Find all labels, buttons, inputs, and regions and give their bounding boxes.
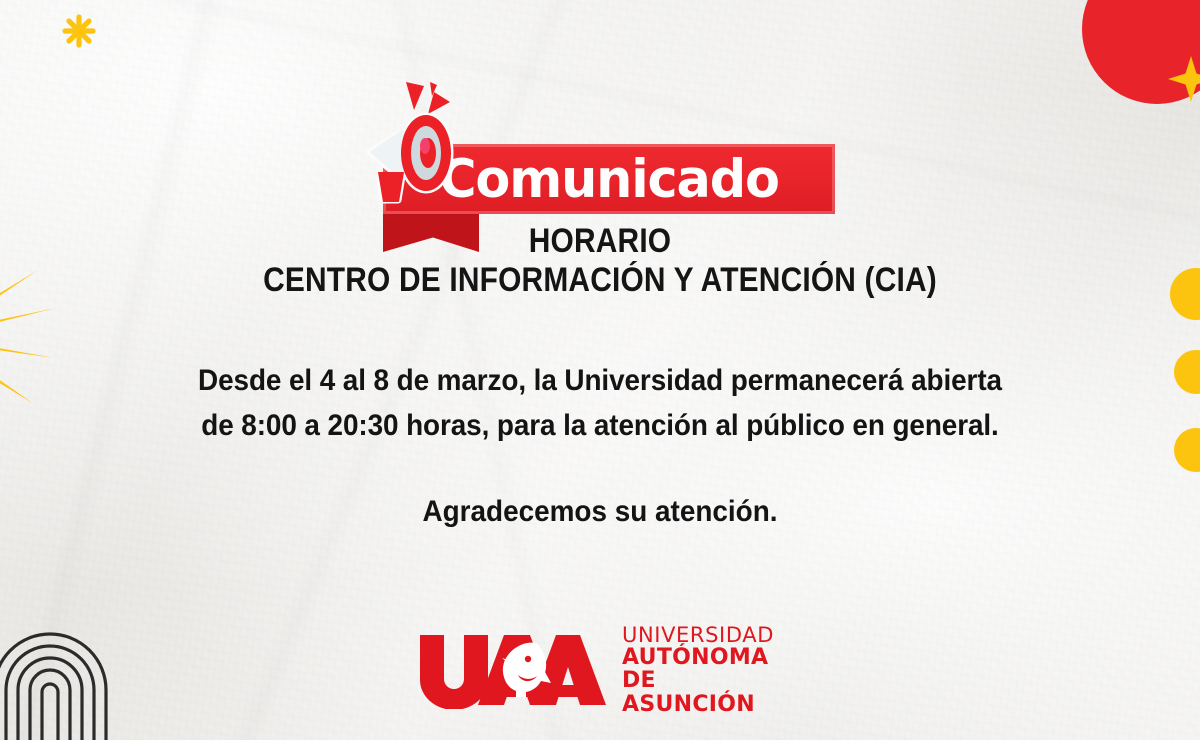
uaa-logo-wordmark: UNIVERSIDAD AUTÓNOMA DE ASUNCIÓN xyxy=(622,624,782,716)
uaa-logo: UNIVERSIDAD AUTÓNOMA DE ASUNCIÓN xyxy=(418,628,782,712)
body-line-2: de 8:00 a 20:30 horas, para la atención … xyxy=(42,403,1158,448)
arc-lines-decoration xyxy=(0,616,120,740)
announcement-poster: Comunicado xyxy=(0,0,1200,740)
heading-block: HORARIO CENTRO DE INFORMACIÓN Y ATENCIÓN… xyxy=(0,222,1200,301)
uaa-eagle-logo-icon xyxy=(418,631,608,709)
closing-line: Agradecemos su atención. xyxy=(42,495,1158,529)
heading-line-2: CENTRO DE INFORMACIÓN Y ATENCIÓN (CIA) xyxy=(72,261,1128,300)
body-block: Desde el 4 al 8 de marzo, la Universidad… xyxy=(0,358,1200,448)
megaphone-icon xyxy=(358,80,494,212)
comunicado-banner: Comunicado xyxy=(0,40,1200,205)
logo-line-2: AUTÓNOMA DE xyxy=(622,646,782,693)
body-line-1: Desde el 4 al 8 de marzo, la Universidad… xyxy=(42,358,1158,403)
logo-line-3: ASUNCIÓN xyxy=(622,693,782,716)
closing-block: Agradecemos su atención. xyxy=(0,495,1200,529)
logo-line-1: UNIVERSIDAD xyxy=(622,624,782,646)
heading-line-1: HORARIO xyxy=(72,222,1128,261)
